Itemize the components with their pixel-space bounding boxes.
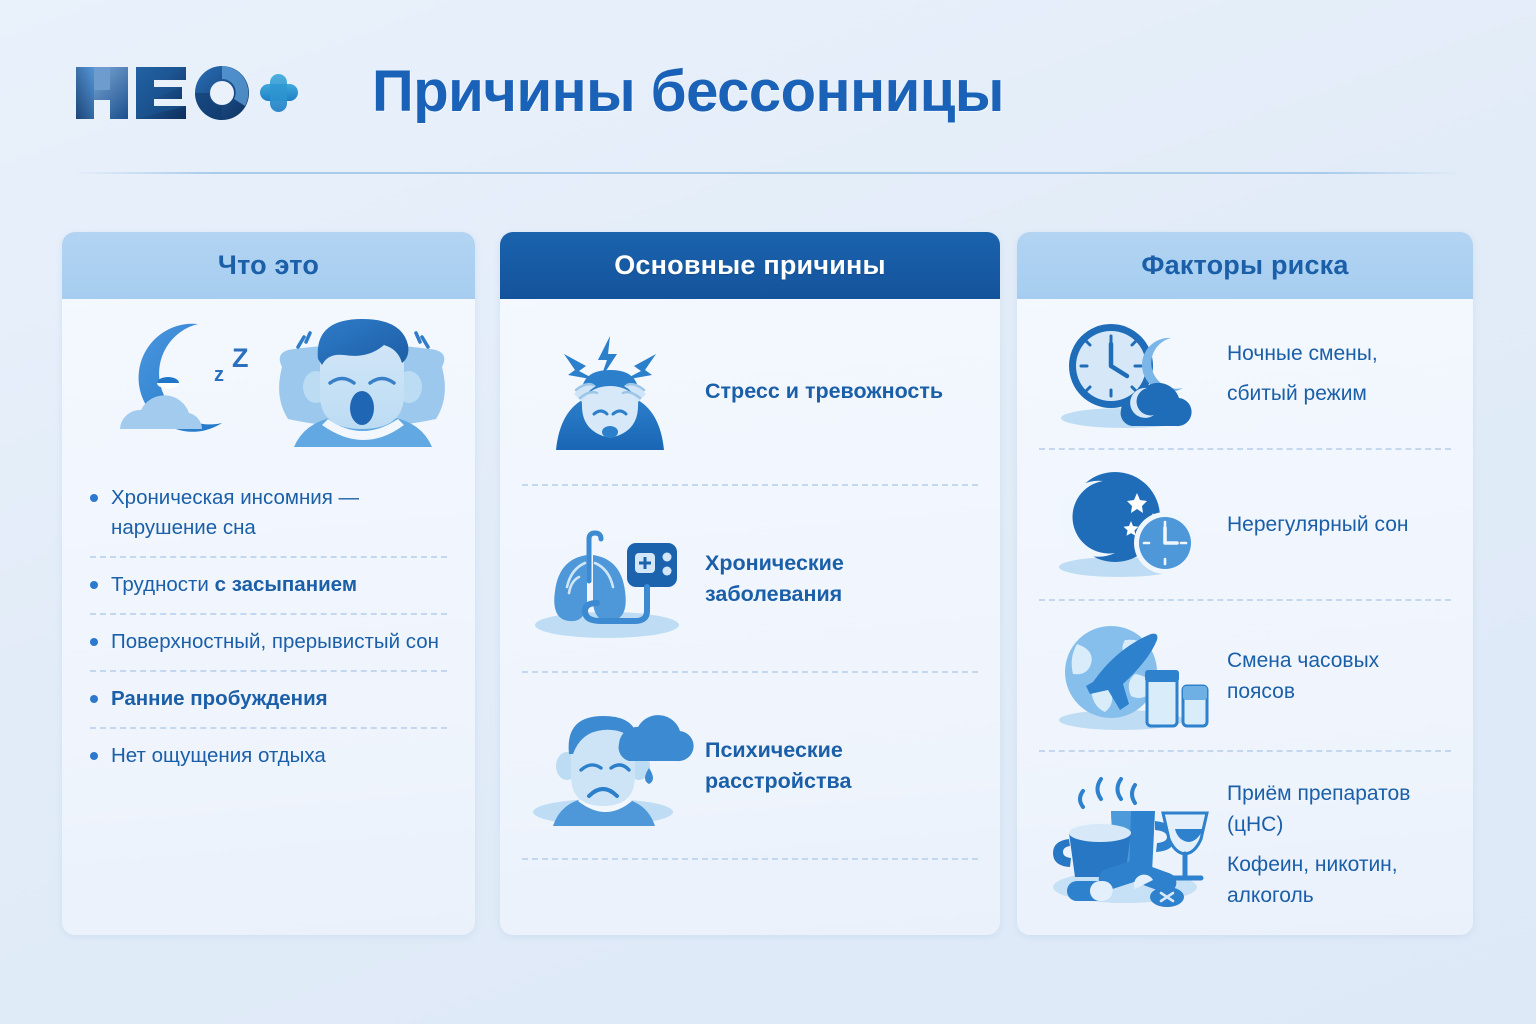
moon-stars-clock-icon [1039, 462, 1219, 587]
what-bullet-list: Хроническая инсомния — нарушение сна Тру… [62, 465, 475, 784]
list-item-label: Трудности с засыпанием [111, 570, 357, 600]
card-main-header: Основные причины [500, 232, 1000, 299]
lungs-blood-pressure-icon [522, 509, 697, 649]
card-what-title: Что это [218, 250, 319, 281]
list-item: Нерегулярный сон [1017, 450, 1473, 599]
list-item-label: Ночные смены, сбитый режим [1219, 338, 1378, 409]
card-what-body: Z z [62, 299, 475, 784]
card-risk-body: Ночные смены, сбитый режим [1017, 299, 1473, 935]
card-what-header: Что это [62, 232, 475, 299]
neo-plus-logo [74, 62, 299, 124]
list-item-label: Психические расстройства [697, 735, 978, 797]
list-item-label: Поверхностный, прерывистый сон [111, 627, 439, 657]
list-item: Приём препаратов (цНС) Кофеин, никотин, … [1017, 752, 1473, 935]
list-item-label-line: Приём препаратов (цНС) [1227, 778, 1451, 840]
list-item: Трудности с засыпанием [84, 558, 453, 613]
list-item-label-line: Кофеин, никотин, алкоголь [1227, 849, 1451, 911]
svg-text:z: z [214, 364, 224, 386]
list-item-label: Ранние пробуждения [111, 684, 328, 714]
list-item: Хронические заболевания [500, 486, 1000, 671]
bullet-dot-icon [90, 638, 98, 646]
list-item-label: Приём препаратов (цНС) Кофеин, никотин, … [1219, 778, 1451, 911]
page-header: Причины бессонницы [0, 0, 1536, 173]
stressed-head-icon [522, 322, 697, 462]
list-item-label: Нерегулярный сон [1219, 509, 1408, 540]
what-illustration: Z z [62, 299, 475, 465]
list-item-label: Стресс и тревожность [697, 376, 943, 407]
list-item: Психические расстройства [500, 673, 1000, 858]
card-main-body: Стресс и тревожность [500, 299, 1000, 860]
list-item: Смена часовых поясов [1017, 601, 1473, 750]
list-item: Поверхностный, прерывистый сон [84, 615, 453, 670]
list-item: Хроническая инсомния — нарушение сна [84, 471, 453, 556]
globe-airplane-pills-icon [1039, 613, 1219, 738]
list-item-label: Нет ощущения отдыха [111, 741, 326, 771]
card-risk-title: Факторы риска [1141, 250, 1348, 281]
bullet-dot-icon [90, 695, 98, 703]
sad-face-rain-cloud-icon [522, 696, 697, 836]
card-what-is-it: Что это Z [62, 232, 475, 935]
page-title: Причины бессонницы [372, 58, 1004, 125]
list-item-label-plain: Трудности [111, 573, 215, 596]
list-item: Нет ощущения отдыха [84, 729, 453, 784]
list-item: Ранние пробуждения [84, 672, 453, 727]
list-item: Стресс и тревожность [500, 299, 1000, 484]
coffee-wine-pills-icon [1039, 782, 1219, 907]
list-item-label-line: сбитый режим [1227, 378, 1378, 409]
header-divider [72, 172, 1464, 174]
list-item-label: Смена часовых поясов [1219, 645, 1451, 707]
clock-moon-icon [1039, 311, 1219, 436]
list-item: Ночные смены, сбитый режим [1017, 299, 1473, 448]
list-item-label-emphasis: с засыпанием [215, 573, 357, 596]
card-main-title: Основные причины [614, 250, 886, 281]
list-item-label: Хронические заболевания [697, 548, 978, 610]
bullet-dot-icon [90, 494, 98, 502]
card-risk-header: Факторы риска [1017, 232, 1473, 299]
card-main-causes: Основные причины [500, 232, 1000, 935]
list-item-label-line: Нерегулярный сон [1227, 509, 1408, 540]
bullet-dot-icon [90, 581, 98, 589]
list-item-label-line: Смена часовых поясов [1227, 645, 1451, 707]
list-item-label-line: Ночные смены, [1227, 338, 1378, 369]
svg-text:Z: Z [232, 343, 249, 373]
card-risk-factors: Факторы риска [1017, 232, 1473, 935]
bullet-dot-icon [90, 752, 98, 760]
separator [522, 858, 978, 860]
list-item-label: Хроническая инсомния — нарушение сна [111, 483, 449, 543]
